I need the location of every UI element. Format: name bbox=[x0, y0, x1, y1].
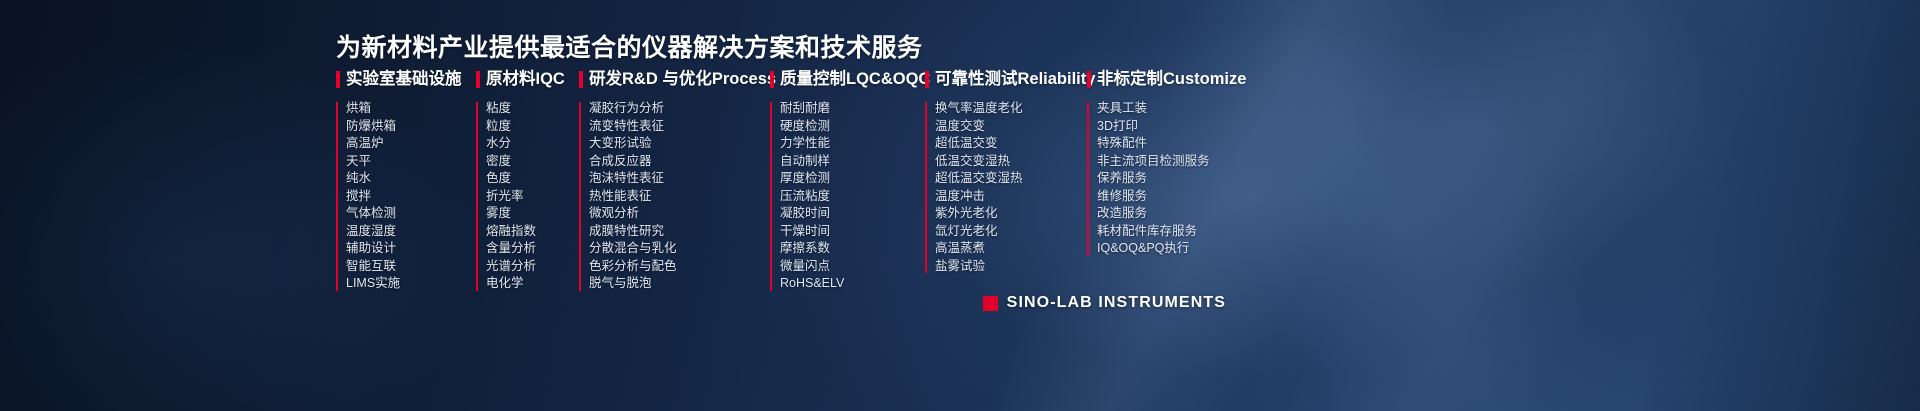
list-item[interactable]: 大变形试验 bbox=[589, 135, 770, 153]
list-item[interactable]: 保养服务 bbox=[1097, 170, 1257, 188]
list-item[interactable]: 热性能表征 bbox=[589, 188, 770, 206]
list-item[interactable]: 分散混合与乳化 bbox=[589, 240, 770, 258]
list-item[interactable]: 密度 bbox=[486, 153, 579, 171]
list-item[interactable]: 3D打印 bbox=[1097, 118, 1257, 136]
list-item[interactable]: 含量分析 bbox=[486, 240, 579, 258]
column-header: 质量控制LQC&OQC bbox=[770, 68, 925, 90]
column-header: 可靠性测试Reliability bbox=[925, 68, 1087, 90]
red-bar-icon bbox=[579, 71, 583, 88]
column-header-label: 研发R&D 与优化Process bbox=[589, 71, 776, 88]
list-item[interactable]: 色彩分析与配色 bbox=[589, 258, 770, 276]
service-category-columns: 实验室基础设施 烘箱 防爆烘箱 高温炉 天平 纯水 搅拌 气体检测 温度湿度 辅… bbox=[336, 68, 1257, 293]
list-item[interactable]: RoHS&ELV bbox=[780, 275, 925, 293]
column-item-list: 耐刮耐磨 硬度检测 力学性能 自动制样 厚度检测 压流粘度 凝胶时间 干燥时间 … bbox=[770, 100, 925, 293]
list-item[interactable]: 粒度 bbox=[486, 118, 579, 136]
list-item[interactable]: 厚度检测 bbox=[780, 170, 925, 188]
column-header: 非标定制Customize bbox=[1087, 68, 1257, 90]
service-column-raw-material-iqc: 原材料IQC 粘度 粒度 水分 密度 色度 折光率 雾度 熔融指数 含量分析 光… bbox=[476, 68, 579, 293]
brand-logo: SINO-LAB INSTRUMENTS bbox=[983, 294, 1226, 312]
list-item[interactable]: 温度交变 bbox=[935, 118, 1087, 136]
list-item[interactable]: 非主流项目检测服务 bbox=[1097, 153, 1257, 171]
red-bar-icon bbox=[770, 71, 774, 88]
list-item[interactable]: 智能互联 bbox=[346, 258, 476, 276]
list-item[interactable]: 换气率温度老化 bbox=[935, 100, 1087, 118]
column-item-list: 粘度 粒度 水分 密度 色度 折光率 雾度 熔融指数 含量分析 光谱分析 电化学 bbox=[476, 100, 579, 293]
list-item[interactable]: 烘箱 bbox=[346, 100, 476, 118]
list-item[interactable]: 力学性能 bbox=[780, 135, 925, 153]
page-title: 为新材料产业提供最适合的仪器解决方案和技术服务 bbox=[336, 28, 923, 64]
list-item[interactable]: 纯水 bbox=[346, 170, 476, 188]
list-item[interactable]: 脱气与脱泡 bbox=[589, 275, 770, 293]
list-item[interactable]: 温度湿度 bbox=[346, 223, 476, 241]
list-item[interactable]: 耗材配件库存服务 bbox=[1097, 223, 1257, 241]
list-item[interactable]: 凝胶时间 bbox=[780, 205, 925, 223]
list-item[interactable]: 光谱分析 bbox=[486, 258, 579, 276]
list-item[interactable]: 微量闪点 bbox=[780, 258, 925, 276]
service-column-rd-process: 研发R&D 与优化Process 凝胶行为分析 流变特性表征 大变形试验 合成反… bbox=[579, 68, 770, 293]
list-item[interactable]: 泡沫特性表征 bbox=[589, 170, 770, 188]
column-header: 原材料IQC bbox=[476, 68, 579, 90]
list-item[interactable]: 高温蒸煮 bbox=[935, 240, 1087, 258]
column-header-label: 质量控制LQC&OQC bbox=[780, 71, 930, 88]
list-item[interactable]: 合成反应器 bbox=[589, 153, 770, 171]
red-bar-icon bbox=[336, 71, 340, 88]
list-item[interactable]: 熔融指数 bbox=[486, 223, 579, 241]
list-item[interactable]: 氙灯光老化 bbox=[935, 223, 1087, 241]
list-item[interactable]: 天平 bbox=[346, 153, 476, 171]
red-bar-icon bbox=[1087, 71, 1091, 88]
list-item[interactable]: 紫外光老化 bbox=[935, 205, 1087, 223]
service-column-lab-infrastructure: 实验室基础设施 烘箱 防爆烘箱 高温炉 天平 纯水 搅拌 气体检测 温度湿度 辅… bbox=[336, 68, 476, 293]
column-item-list: 烘箱 防爆烘箱 高温炉 天平 纯水 搅拌 气体检测 温度湿度 辅助设计 智能互联… bbox=[336, 100, 476, 293]
list-item[interactable]: 水分 bbox=[486, 135, 579, 153]
promo-banner: 为新材料产业提供最适合的仪器解决方案和技术服务 实验室基础设施 烘箱 防爆烘箱 … bbox=[0, 0, 1920, 411]
column-header-label: 实验室基础设施 bbox=[346, 71, 462, 88]
list-item[interactable]: 自动制样 bbox=[780, 153, 925, 171]
list-item[interactable]: 粘度 bbox=[486, 100, 579, 118]
column-header-label: 原材料IQC bbox=[486, 71, 565, 88]
list-item[interactable]: IQ&OQ&PQ执行 bbox=[1097, 240, 1257, 258]
list-item[interactable]: 夹具工装 bbox=[1097, 100, 1257, 118]
list-item[interactable]: 摩擦系数 bbox=[780, 240, 925, 258]
list-item[interactable]: 温度冲击 bbox=[935, 188, 1087, 206]
list-item[interactable]: 压流粘度 bbox=[780, 188, 925, 206]
column-header: 研发R&D 与优化Process bbox=[579, 68, 770, 90]
list-item[interactable]: 雾度 bbox=[486, 205, 579, 223]
list-item[interactable]: 防爆烘箱 bbox=[346, 118, 476, 136]
list-item[interactable]: 凝胶行为分析 bbox=[589, 100, 770, 118]
list-item[interactable]: 特殊配件 bbox=[1097, 135, 1257, 153]
column-header-label: 非标定制Customize bbox=[1097, 71, 1246, 88]
list-item[interactable]: 微观分析 bbox=[589, 205, 770, 223]
red-bar-icon bbox=[476, 71, 480, 88]
service-column-quality-control: 质量控制LQC&OQC 耐刮耐磨 硬度检测 力学性能 自动制样 厚度检测 压流粘… bbox=[770, 68, 925, 293]
list-item[interactable]: 高温炉 bbox=[346, 135, 476, 153]
list-item[interactable]: 电化学 bbox=[486, 275, 579, 293]
list-item[interactable]: 超低温交变湿热 bbox=[935, 170, 1087, 188]
list-item[interactable]: 超低温交变 bbox=[935, 135, 1087, 153]
list-item[interactable]: 气体检测 bbox=[346, 205, 476, 223]
list-item[interactable]: 干燥时间 bbox=[780, 223, 925, 241]
list-item[interactable]: 维修服务 bbox=[1097, 188, 1257, 206]
list-item[interactable]: 改造服务 bbox=[1097, 205, 1257, 223]
list-item[interactable]: 搅拌 bbox=[346, 188, 476, 206]
list-item[interactable]: LIMS实施 bbox=[346, 275, 476, 293]
red-bar-icon bbox=[925, 71, 929, 88]
service-column-reliability: 可靠性测试Reliability 换气率温度老化 温度交变 超低温交变 低温交变… bbox=[925, 68, 1087, 275]
list-item[interactable]: 流变特性表征 bbox=[589, 118, 770, 136]
list-item[interactable]: 耐刮耐磨 bbox=[780, 100, 925, 118]
list-item[interactable]: 硬度检测 bbox=[780, 118, 925, 136]
list-item[interactable]: 折光率 bbox=[486, 188, 579, 206]
brand-name: SINO-LAB INSTRUMENTS bbox=[1007, 294, 1226, 312]
list-item[interactable]: 辅助设计 bbox=[346, 240, 476, 258]
column-item-list: 凝胶行为分析 流变特性表征 大变形试验 合成反应器 泡沫特性表征 热性能表征 微… bbox=[579, 100, 770, 293]
service-column-customize: 非标定制Customize 夹具工装 3D打印 特殊配件 非主流项目检测服务 保… bbox=[1087, 68, 1257, 258]
list-item[interactable]: 低温交变湿热 bbox=[935, 153, 1087, 171]
list-item[interactable]: 盐雾试验 bbox=[935, 258, 1087, 276]
list-item[interactable]: 色度 bbox=[486, 170, 579, 188]
column-item-list: 夹具工装 3D打印 特殊配件 非主流项目检测服务 保养服务 维修服务 改造服务 … bbox=[1087, 100, 1257, 258]
column-item-list: 换气率温度老化 温度交变 超低温交变 低温交变湿热 超低温交变湿热 温度冲击 紫… bbox=[925, 100, 1087, 275]
logo-square-icon bbox=[983, 296, 998, 311]
column-header: 实验室基础设施 bbox=[336, 68, 476, 90]
banner-content: 为新材料产业提供最适合的仪器解决方案和技术服务 实验室基础设施 烘箱 防爆烘箱 … bbox=[0, 0, 1920, 411]
list-item[interactable]: 成膜特性研究 bbox=[589, 223, 770, 241]
column-header-label: 可靠性测试Reliability bbox=[935, 71, 1095, 88]
